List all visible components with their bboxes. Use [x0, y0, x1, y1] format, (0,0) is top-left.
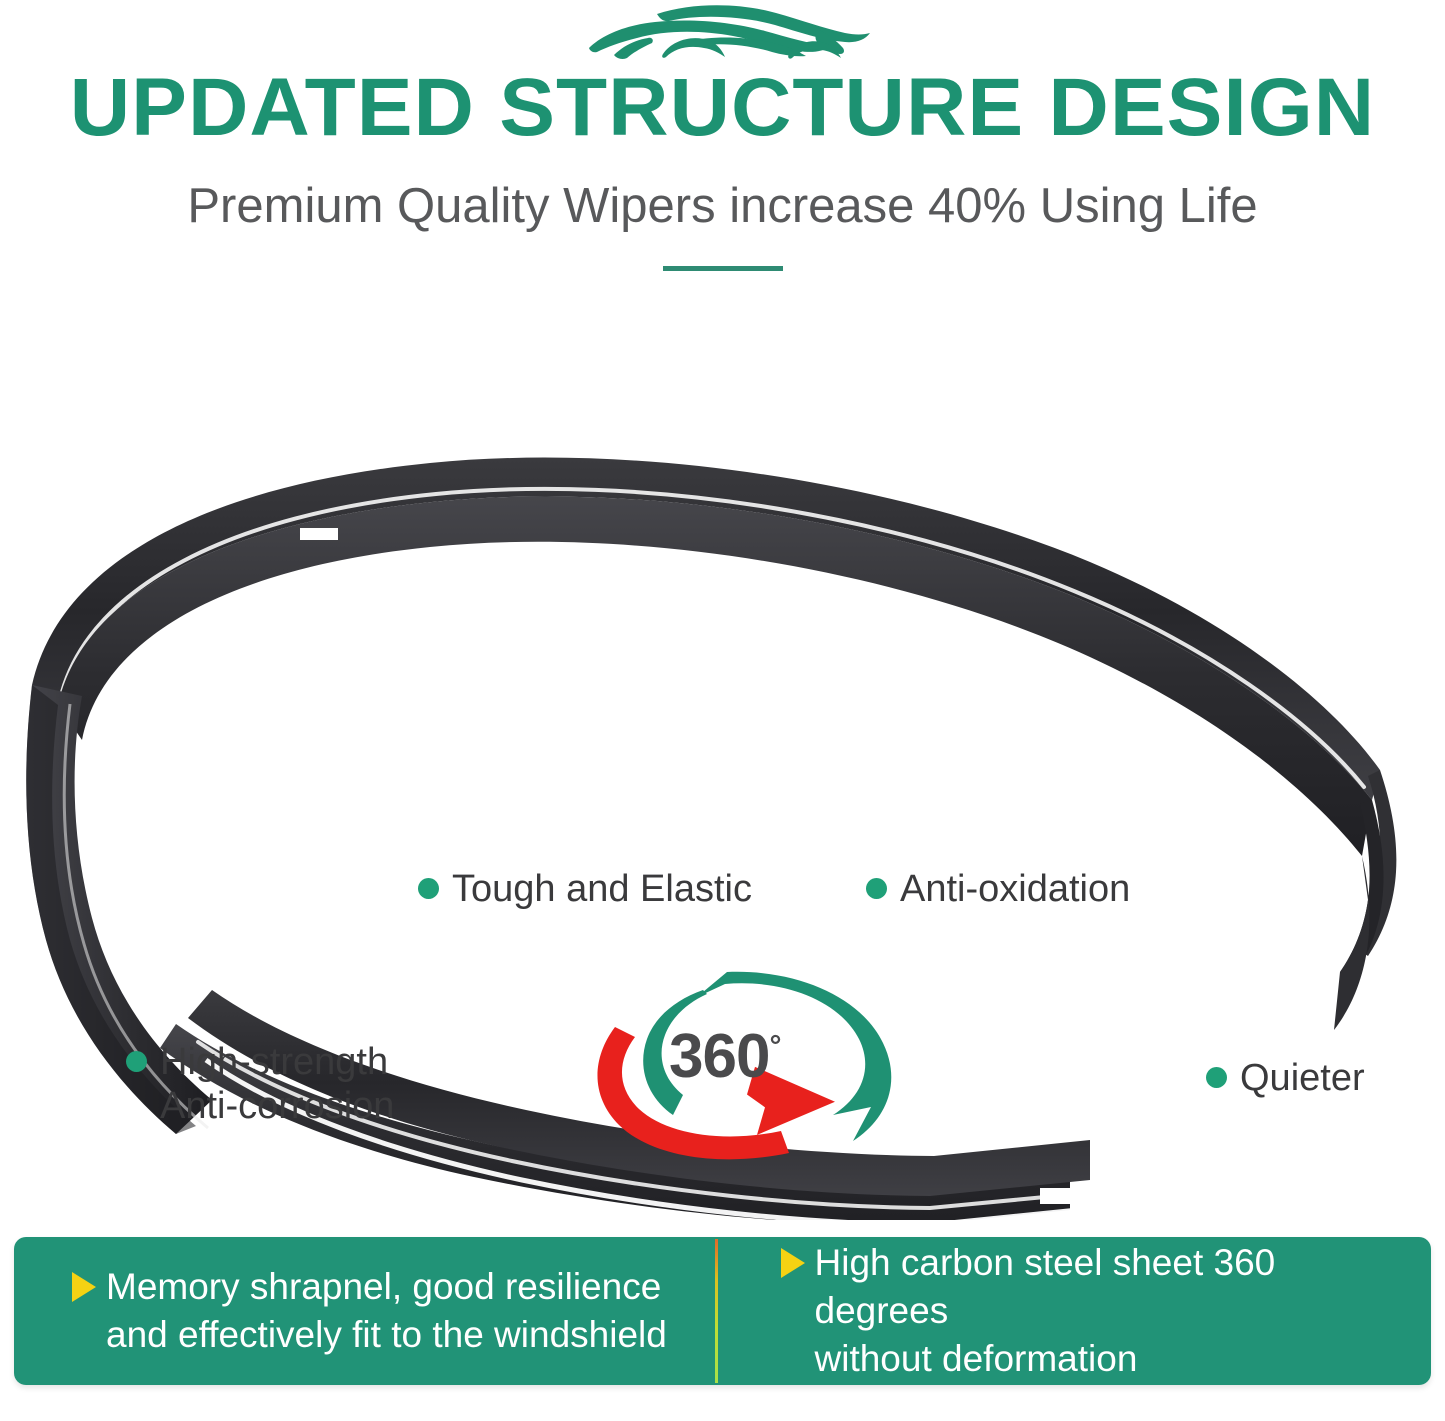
triangle-arrow-icon	[781, 1248, 805, 1278]
feature-label-quieter: Quieter	[1206, 1056, 1365, 1100]
header: UPDATED STRUCTURE DESIGN Premium Quality…	[0, 0, 1445, 300]
bullet-dot-icon	[1206, 1067, 1227, 1088]
product-illustration: Tough and Elastic Anti-oxidation High-st…	[0, 300, 1445, 1220]
page-subtitle: Premium Quality Wipers increase 40% Usin…	[0, 176, 1445, 236]
feature-label-text: Anti-oxidation	[900, 867, 1130, 911]
banner-item-text: Memory shrapnel, good resilience and eff…	[106, 1263, 667, 1359]
banner-half-right: High carbon steel sheet 360 degrees with…	[723, 1237, 1432, 1385]
badge-360-number: 360	[669, 1022, 769, 1091]
degree-symbol-icon: °	[769, 1029, 780, 1062]
badge-360-degrees: 360°	[575, 955, 920, 1165]
bullet-dot-icon	[866, 878, 887, 899]
feature-label-text: High-strength Anti-corrosion	[160, 1040, 394, 1128]
feature-label-text: Quieter	[1240, 1056, 1365, 1100]
feature-label-anti-oxidation: Anti-oxidation	[866, 867, 1130, 911]
title-divider-rule	[663, 266, 783, 271]
banner-item-high-carbon-steel: High carbon steel sheet 360 degrees with…	[781, 1239, 1402, 1383]
bullet-dot-icon	[126, 1051, 147, 1072]
car-silhouette-icon	[573, 4, 873, 66]
feature-label-tough-and-elastic: Tough and Elastic	[418, 867, 752, 911]
page-title: UPDATED STRUCTURE DESIGN	[0, 62, 1445, 154]
banner-half-left: Memory shrapnel, good resilience and eff…	[14, 1237, 723, 1385]
triangle-arrow-icon	[72, 1272, 96, 1302]
banner-vertical-divider	[715, 1239, 718, 1383]
bullet-dot-icon	[418, 878, 439, 899]
feature-label-high-strength-anti-corrosion: High-strength Anti-corrosion	[126, 1040, 394, 1128]
feature-label-text: Tough and Elastic	[452, 867, 752, 911]
badge-360-text: 360°	[669, 1026, 780, 1088]
banner-item-memory-shrapnel: Memory shrapnel, good resilience and eff…	[72, 1263, 667, 1359]
banner-item-text: High carbon steel sheet 360 degrees with…	[815, 1239, 1402, 1383]
bottom-feature-banner: Memory shrapnel, good resilience and eff…	[14, 1237, 1431, 1385]
